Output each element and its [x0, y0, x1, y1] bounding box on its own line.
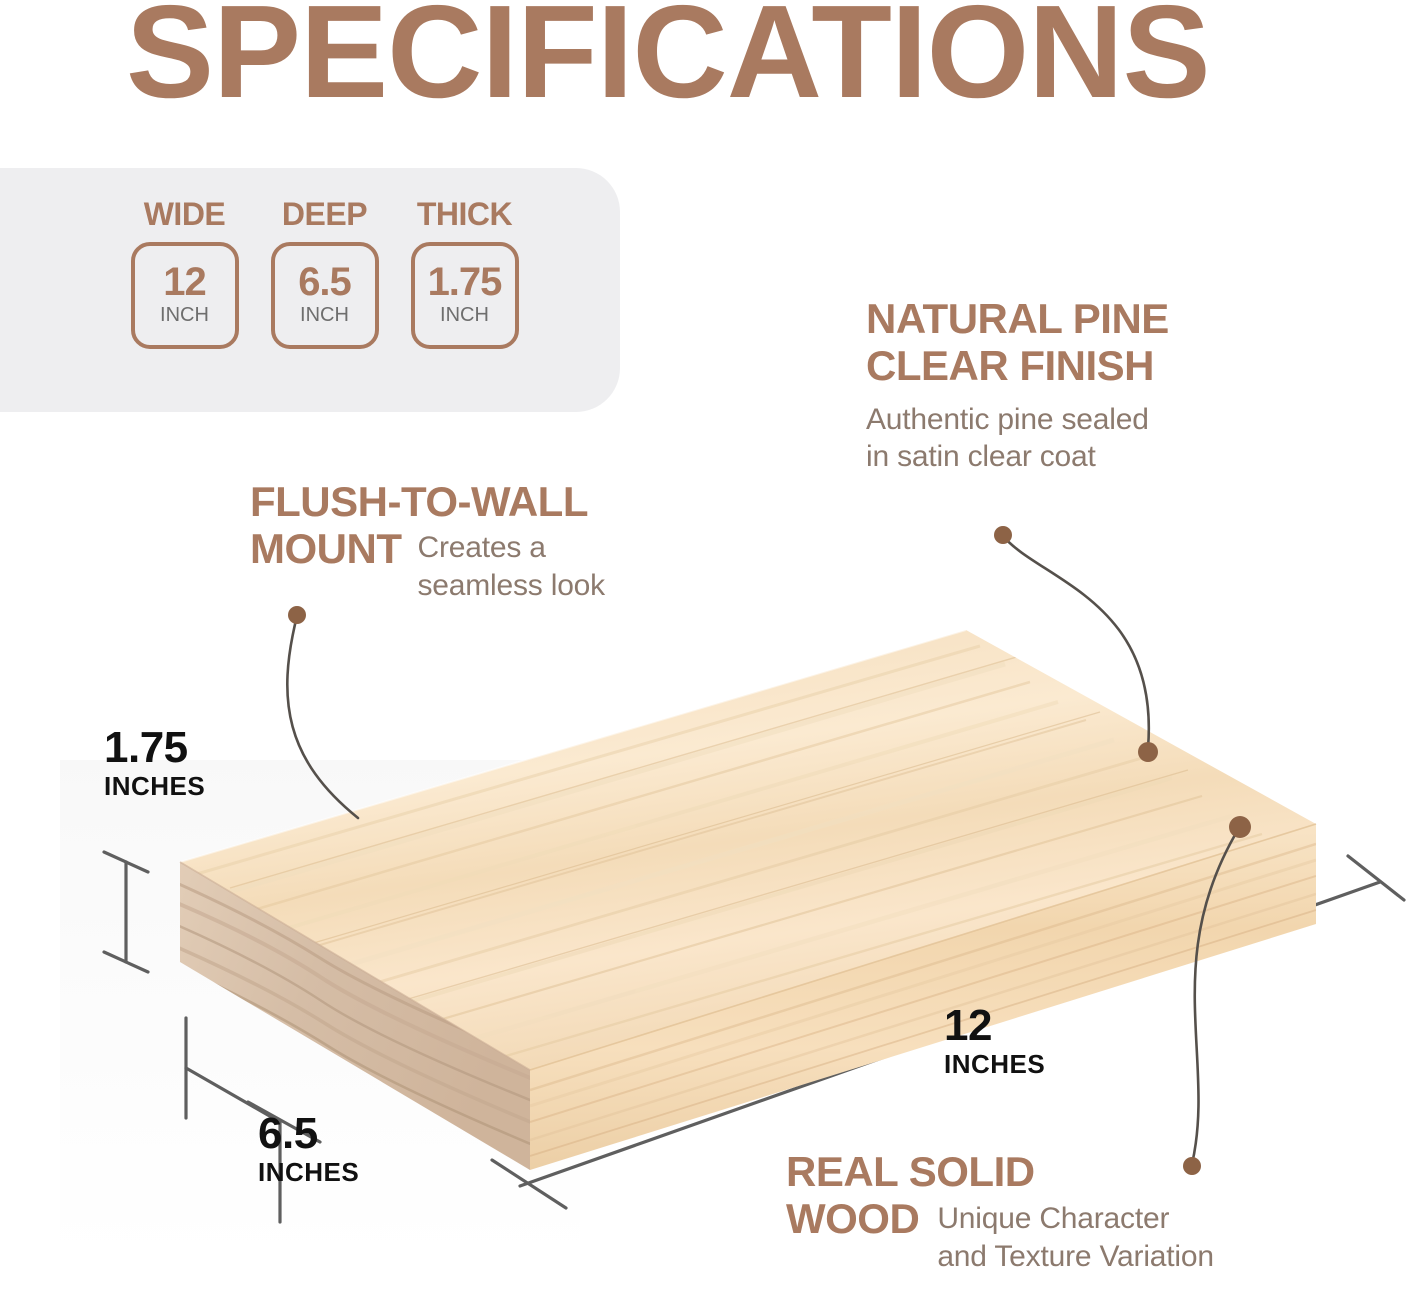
dimension-label-width: 12 INCHES — [944, 1004, 1045, 1082]
feature-real-solid-wood-subtext: Unique Character and Texture Variation — [937, 1200, 1214, 1275]
dimension-value-width: 12 — [944, 1004, 1045, 1048]
leader-dot-natural-pine-target — [1138, 742, 1158, 762]
feature-real-solid-wood-second-row: WOOD Unique Character and Texture Variat… — [786, 1195, 1386, 1275]
feature-flush-to-wall-heading-line2: MOUNT — [250, 525, 401, 572]
dimension-label-thickness: 1.75 INCHES — [104, 726, 205, 804]
leader-dot-natural-pine-label — [994, 526, 1012, 544]
feature-flush-to-wall-second-row: MOUNT Creates a seamless look — [250, 525, 790, 604]
feature-real-solid-wood-heading-line1: REAL SOLID — [786, 1148, 1386, 1195]
dimension-unit-thickness: INCHES — [104, 770, 205, 804]
feature-flush-to-wall-sub-line2: seamless look — [417, 567, 604, 605]
dimension-value-thickness: 1.75 — [104, 726, 205, 770]
feature-real-solid-wood: REAL SOLID WOOD Unique Character and Tex… — [786, 1148, 1386, 1275]
feature-natural-pine-sub-line2: in satin clear coat — [866, 438, 1286, 476]
dimension-unit-depth: INCHES — [258, 1156, 359, 1190]
feature-real-solid-wood-sub-line1: Unique Character — [937, 1200, 1214, 1238]
dimension-unit-width: INCHES — [944, 1048, 1045, 1082]
product-illustration — [0, 0, 1406, 1289]
feature-natural-pine-sub-line1: Authentic pine sealed — [866, 401, 1286, 439]
dim-cap-width-right — [1348, 856, 1404, 900]
feature-natural-pine-subtext: Authentic pine sealed in satin clear coa… — [866, 401, 1286, 476]
leader-dot-real-solid-wood-target — [1229, 816, 1251, 838]
feature-natural-pine-heading-line2: CLEAR FINISH — [866, 342, 1286, 389]
feature-flush-to-wall-sub-line1: Creates a — [417, 529, 604, 567]
dimension-label-depth: 6.5 INCHES — [258, 1112, 359, 1190]
feature-natural-pine: NATURAL PINE CLEAR FINISH Authentic pine… — [866, 295, 1286, 476]
leader-dot-flush-to-wall — [288, 606, 306, 624]
feature-natural-pine-heading: NATURAL PINE CLEAR FINISH — [866, 295, 1286, 390]
feature-real-solid-wood-sub-line2: and Texture Variation — [937, 1238, 1214, 1276]
feature-natural-pine-heading-line1: NATURAL PINE — [866, 295, 1286, 342]
dimension-value-depth: 6.5 — [258, 1112, 359, 1156]
specifications-infographic: SPECIFICATIONS WIDE 12 INCH DEEP 6.5 INC… — [0, 0, 1406, 1289]
feature-flush-to-wall-heading-line1: FLUSH-TO-WALL — [250, 478, 790, 525]
feature-flush-to-wall: FLUSH-TO-WALL MOUNT Creates a seamless l… — [250, 478, 790, 604]
feature-real-solid-wood-heading-line2: WOOD — [786, 1195, 919, 1242]
feature-flush-to-wall-subtext: Creates a seamless look — [417, 529, 604, 604]
